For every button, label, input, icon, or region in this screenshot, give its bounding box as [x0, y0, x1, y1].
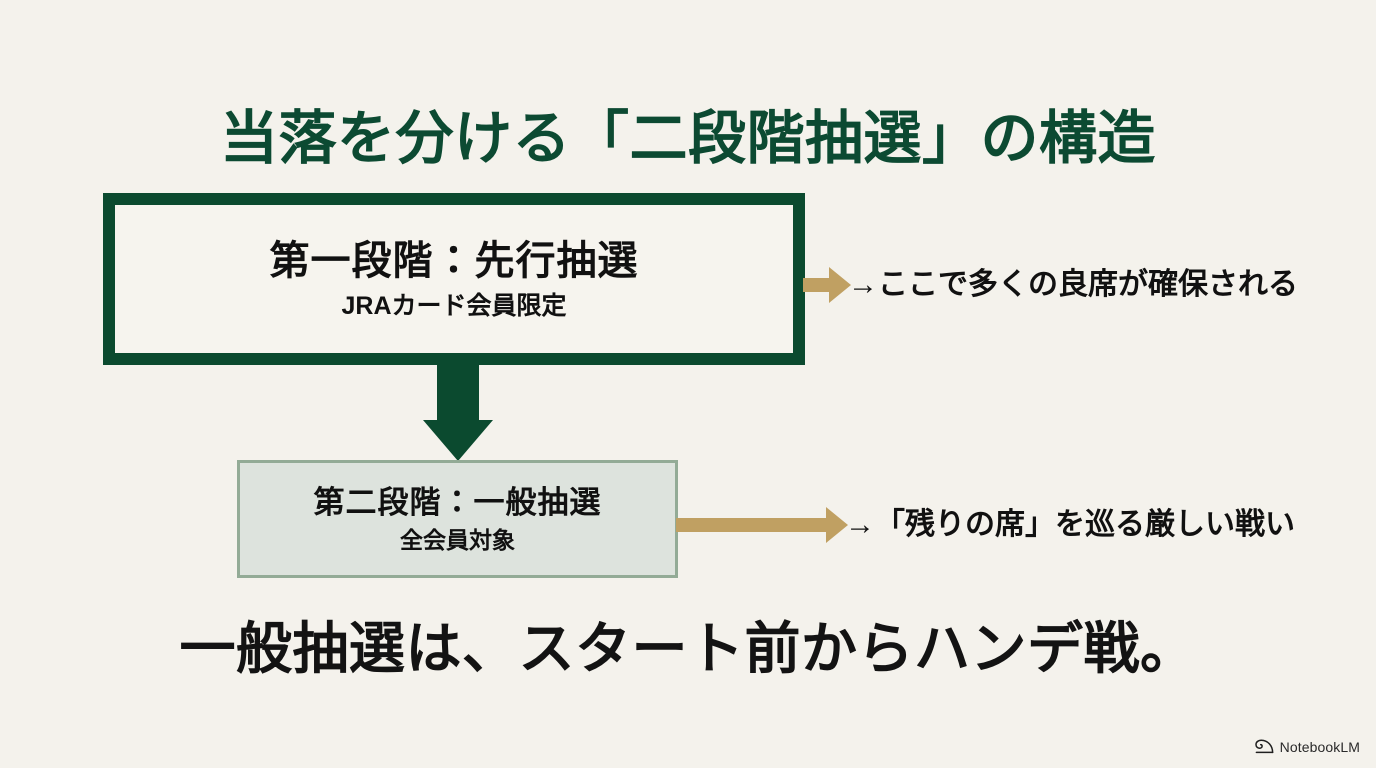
- stage-2-annotation-text: →「残りの席」を巡る厳しい戦い: [845, 508, 1295, 541]
- page-title: 当落を分ける「二段階抽選」の構造: [0, 107, 1376, 172]
- stage-2-annotation-arrow-icon: [676, 505, 848, 545]
- stage-2-box: 第二段階：一般抽選 全会員対象: [237, 460, 678, 578]
- stage-1-box: 第一段階：先行抽選 JRAカード会員限定: [103, 193, 805, 365]
- flow-connector-down-arrow: [423, 365, 493, 461]
- notebooklm-label: NotebookLM: [1280, 740, 1360, 754]
- stage-1-annotation-arrow-icon: [803, 265, 851, 305]
- stage-2-title: 第二段階：一般抽選: [314, 485, 602, 521]
- notebooklm-watermark: NotebookLM: [1255, 739, 1360, 754]
- stage-2-subtitle: 全会員対象: [400, 527, 515, 553]
- summary-statement: 一般抽選は、スタート前からハンデ戦。: [0, 618, 1376, 681]
- slide-canvas: 当落を分ける「二段階抽選」の構造 第一段階：先行抽選 JRAカード会員限定 第二…: [0, 0, 1376, 768]
- stage-1-subtitle: JRAカード会員限定: [341, 292, 566, 321]
- notebooklm-spiral-icon: [1255, 739, 1274, 754]
- stage-1-title: 第一段階：先行抽選: [270, 238, 639, 284]
- stage-1-annotation-text: →ここで多くの良席が確保される: [848, 268, 1298, 301]
